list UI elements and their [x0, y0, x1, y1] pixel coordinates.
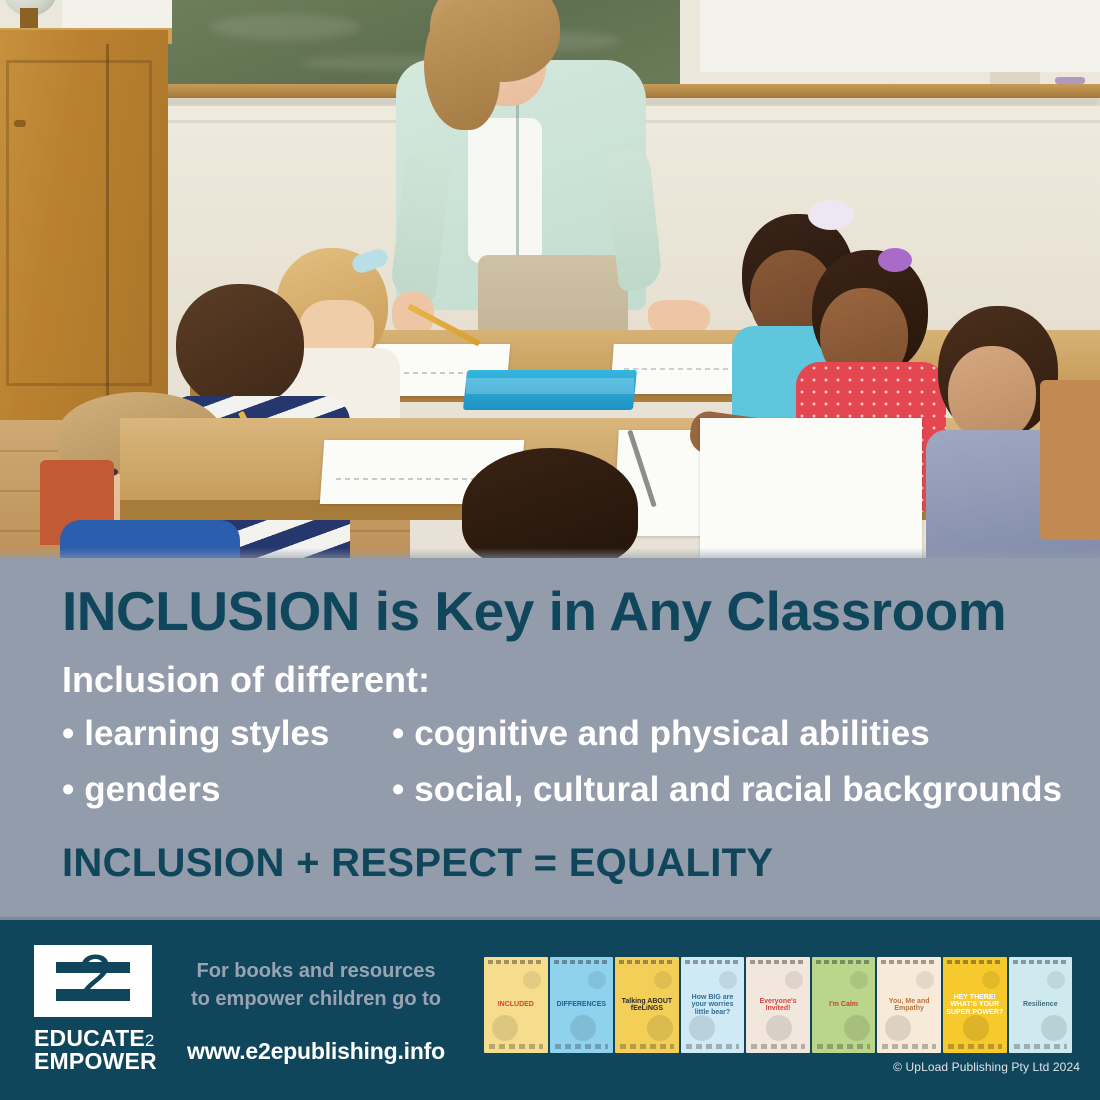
book-cover[interactable]: How BIG are your worries little bear?	[681, 957, 745, 1053]
bullet-column-left: •learning styles	[62, 716, 392, 751]
cover-illustration	[689, 1015, 715, 1041]
e2e-logo-icon: 2	[34, 945, 152, 1017]
list-item-label: social, cultural and racial backgrounds	[414, 770, 1062, 809]
child-hair-bow-white	[808, 200, 854, 230]
cabinet-knob	[14, 120, 26, 127]
cover-illustration	[523, 971, 541, 989]
teacher-hair-side	[424, 0, 500, 130]
book-title: Talking ABOUT fEeLiNGS	[615, 998, 679, 1013]
book-cover[interactable]: I'm Calm	[812, 957, 876, 1053]
bullet-dot-icon: •	[392, 714, 404, 753]
held-paper	[700, 418, 922, 558]
educate2empower-logo[interactable]: 2 EDUCATE2 EMPOWER	[34, 945, 166, 1063]
message-panel: INCLUSION is Key in Any Classroom Inclus…	[0, 558, 1100, 917]
promo-line-2: to empower children go to	[172, 985, 460, 1013]
book-cover[interactable]: DIFFERENCES	[550, 957, 614, 1053]
cover-footline	[1014, 1044, 1068, 1049]
cover-byline	[947, 960, 1003, 964]
cover-footline	[882, 1044, 936, 1049]
book-covers-strip: INCLUDEDDIFFERENCESTalking ABOUT fEeLiNG…	[484, 957, 1072, 1053]
bullet-list: •learning styles •cognitive and physical…	[62, 716, 1062, 828]
cover-byline	[554, 960, 610, 964]
cover-illustration	[1041, 1015, 1067, 1041]
list-item-label: learning styles	[84, 714, 329, 753]
child-braid-face	[948, 346, 1036, 442]
bullet-dot-icon: •	[392, 770, 404, 809]
cover-footline	[686, 1044, 740, 1049]
promo-line-1: For books and resources	[172, 957, 460, 985]
book-title: You, Me and Empathy	[877, 998, 941, 1013]
cover-illustration	[844, 1015, 870, 1041]
cover-byline	[816, 960, 872, 964]
cover-illustration	[719, 971, 737, 989]
book-cover[interactable]: Talking ABOUT fEeLiNGS	[615, 957, 679, 1053]
book-cover[interactable]: Everyone's Invited!	[746, 957, 810, 1053]
cover-footline	[751, 1044, 805, 1049]
logo-wordmark-line1: EDUCATE	[34, 1025, 145, 1051]
child-brown-hair	[176, 284, 304, 408]
bullet-row: •genders •social, cultural and racial ba…	[62, 772, 1062, 828]
list-item-label: genders	[84, 770, 220, 809]
footer: 2 EDUCATE2 EMPOWER For books and resourc…	[0, 917, 1100, 1100]
subhead: Inclusion of different:	[62, 662, 430, 698]
list-item: •cognitive and physical abilities	[392, 714, 930, 753]
list-item: •learning styles	[62, 714, 329, 753]
child-back-of-head	[462, 448, 638, 558]
list-item: •social, cultural and racial backgrounds	[392, 770, 1062, 809]
poster: INCLUSION is Key in Any Classroom Inclus…	[0, 0, 1100, 1100]
cover-illustration	[885, 1015, 911, 1041]
logo-wordmark: EDUCATE2 EMPOWER	[34, 1027, 166, 1074]
cover-footline	[620, 1044, 674, 1049]
bullet-column-left: •genders	[62, 772, 392, 807]
book-cover[interactable]: You, Me and Empathy	[877, 957, 941, 1053]
logo-digit-two: 2	[78, 942, 110, 1018]
book-title: DIFFERENCES	[554, 1001, 609, 1008]
book-title: How BIG are your worries little bear?	[681, 994, 745, 1016]
cover-illustration	[963, 1015, 989, 1041]
website-url[interactable]: www.e2epublishing.info	[172, 1038, 460, 1065]
marker	[1055, 77, 1085, 84]
bullet-row: •learning styles •cognitive and physical…	[62, 716, 1062, 772]
cover-illustration	[570, 1015, 596, 1041]
cabinet-panel	[6, 60, 152, 386]
child-hair-tie-purple	[878, 248, 912, 272]
book-title: I'm Calm	[826, 1001, 861, 1008]
book-cover[interactable]: INCLUDED	[484, 957, 548, 1053]
logo-wordmark-line2: EMPOWER	[34, 1048, 157, 1074]
cover-byline	[488, 960, 544, 964]
classroom-photo	[0, 0, 1100, 558]
book-title: HEY THERE! WHAT'S YOUR SUPER POWER?	[943, 994, 1007, 1016]
cover-footline	[555, 1044, 609, 1049]
page-title: INCLUSION is Key in Any Classroom	[62, 584, 1006, 639]
footer-divider	[0, 917, 1100, 920]
list-item: •genders	[62, 770, 220, 809]
cover-byline	[685, 960, 741, 964]
bullet-column-right: •social, cultural and racial backgrounds	[392, 772, 1062, 807]
book-title: Resilience	[1020, 1001, 1061, 1008]
cover-footline	[948, 1044, 1002, 1049]
photo-bottom-fade	[0, 548, 1100, 558]
cover-illustration	[982, 971, 1000, 989]
cover-byline	[619, 960, 675, 964]
promo-block: For books and resources to empower child…	[172, 957, 460, 1065]
cover-illustration	[588, 971, 606, 989]
cover-footline	[817, 1044, 871, 1049]
book-cover[interactable]: Resilience	[1009, 957, 1073, 1053]
wooden-chair-right	[1040, 380, 1100, 540]
blue-folder-highlight	[466, 378, 634, 394]
bullet-column-right: •cognitive and physical abilities	[392, 716, 1062, 751]
bullet-dot-icon: •	[62, 714, 74, 753]
logo-wordmark-digit: 2	[145, 1031, 155, 1050]
cover-illustration	[785, 971, 803, 989]
whiteboard	[700, 0, 1100, 72]
book-title: INCLUDED	[495, 1001, 537, 1008]
book-cover[interactable]: HEY THERE! WHAT'S YOUR SUPER POWER?	[943, 957, 1007, 1053]
globe-base	[20, 8, 38, 30]
cover-byline	[750, 960, 806, 964]
cover-illustration	[647, 1015, 673, 1041]
cabinet-seam	[106, 44, 109, 430]
cover-illustration	[654, 971, 672, 989]
cover-illustration	[850, 971, 868, 989]
book-title: Everyone's Invited!	[746, 998, 810, 1013]
cover-illustration	[766, 1015, 792, 1041]
cover-byline	[1013, 960, 1069, 964]
bullet-dot-icon: •	[62, 770, 74, 809]
cover-illustration	[492, 1015, 518, 1041]
equation-statement: INCLUSION + RESPECT = EQUALITY	[62, 841, 773, 886]
cover-illustration	[916, 971, 934, 989]
list-item-label: cognitive and physical abilities	[414, 714, 929, 753]
copyright-notice: © UpLoad Publishing Pty Ltd 2024	[893, 1060, 1080, 1074]
cover-byline	[881, 960, 937, 964]
cover-illustration	[1047, 971, 1065, 989]
teacher-undershirt	[468, 118, 542, 263]
eraser	[990, 72, 1040, 84]
cover-footline	[489, 1044, 543, 1049]
